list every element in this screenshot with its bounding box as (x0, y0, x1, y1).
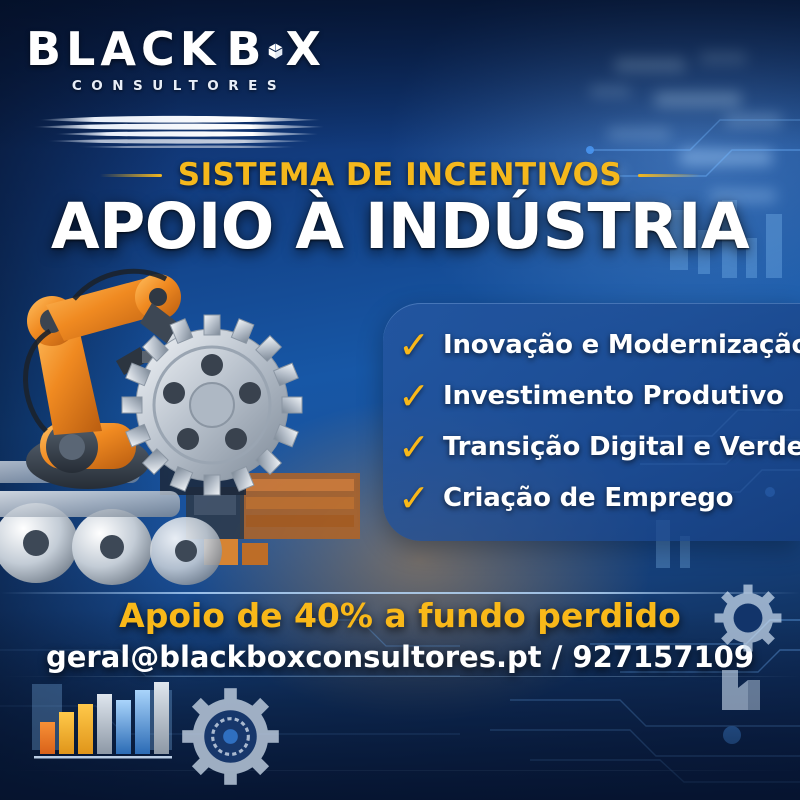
benefit-item: ✓ Inovação e Modernização (397, 319, 800, 370)
brand-logo: BLACK B X CONSULTORES (26, 26, 326, 126)
gear-icon (178, 684, 283, 789)
gear-icon (710, 580, 786, 656)
page-title: APOIO À INDÚSTRIA (0, 190, 800, 263)
eyebrow-row: SISTEMA DE INCENTIVOS (0, 157, 800, 193)
check-icon: ✓ (397, 428, 431, 466)
benefit-label: Investimento Produtivo (443, 381, 784, 411)
check-icon: ✓ (397, 377, 431, 415)
offer-text: Apoio de 40% a fundo perdido (0, 596, 800, 635)
open-box-icon (268, 29, 283, 73)
logo-text-b: B (226, 26, 266, 72)
promotional-poster: BLACK B X CONSULTORES (0, 0, 800, 800)
logo-tagline: CONSULTORES (26, 78, 326, 94)
benefit-label: Criação de Emprego (443, 483, 733, 513)
logo-wordmark: BLACK B X (26, 26, 326, 72)
bar-chart-icon (30, 676, 175, 776)
eyebrow-text: SISTEMA DE INCENTIVOS (178, 157, 623, 193)
gear-icon (122, 315, 302, 495)
logo-text-black: BLACK (26, 26, 220, 72)
footer-divider (0, 592, 800, 594)
logo-text-x: X (286, 26, 326, 72)
contact-info[interactable]: geral@blackboxconsultores.pt / 927157109 (0, 640, 800, 674)
check-icon: ✓ (397, 479, 431, 517)
eyebrow-dash-right (638, 174, 700, 177)
benefit-item: ✓ Criação de Emprego (397, 472, 800, 523)
benefit-item: ✓ Investimento Produtivo (397, 370, 800, 421)
benefit-item: ✓ Transição Digital e Verde (397, 421, 800, 472)
industrial-artwork (0, 255, 390, 585)
check-icon: ✓ (397, 326, 431, 364)
eyebrow-dash-left (100, 174, 162, 177)
swoosh-lines-icon (28, 114, 328, 148)
benefit-label: Inovação e Modernização (443, 330, 800, 360)
factory-icon (718, 658, 776, 710)
benefits-panel: ✓ Inovação e Modernização ✓ Investimento… (383, 303, 800, 541)
benefit-label: Transição Digital e Verde (443, 432, 800, 462)
